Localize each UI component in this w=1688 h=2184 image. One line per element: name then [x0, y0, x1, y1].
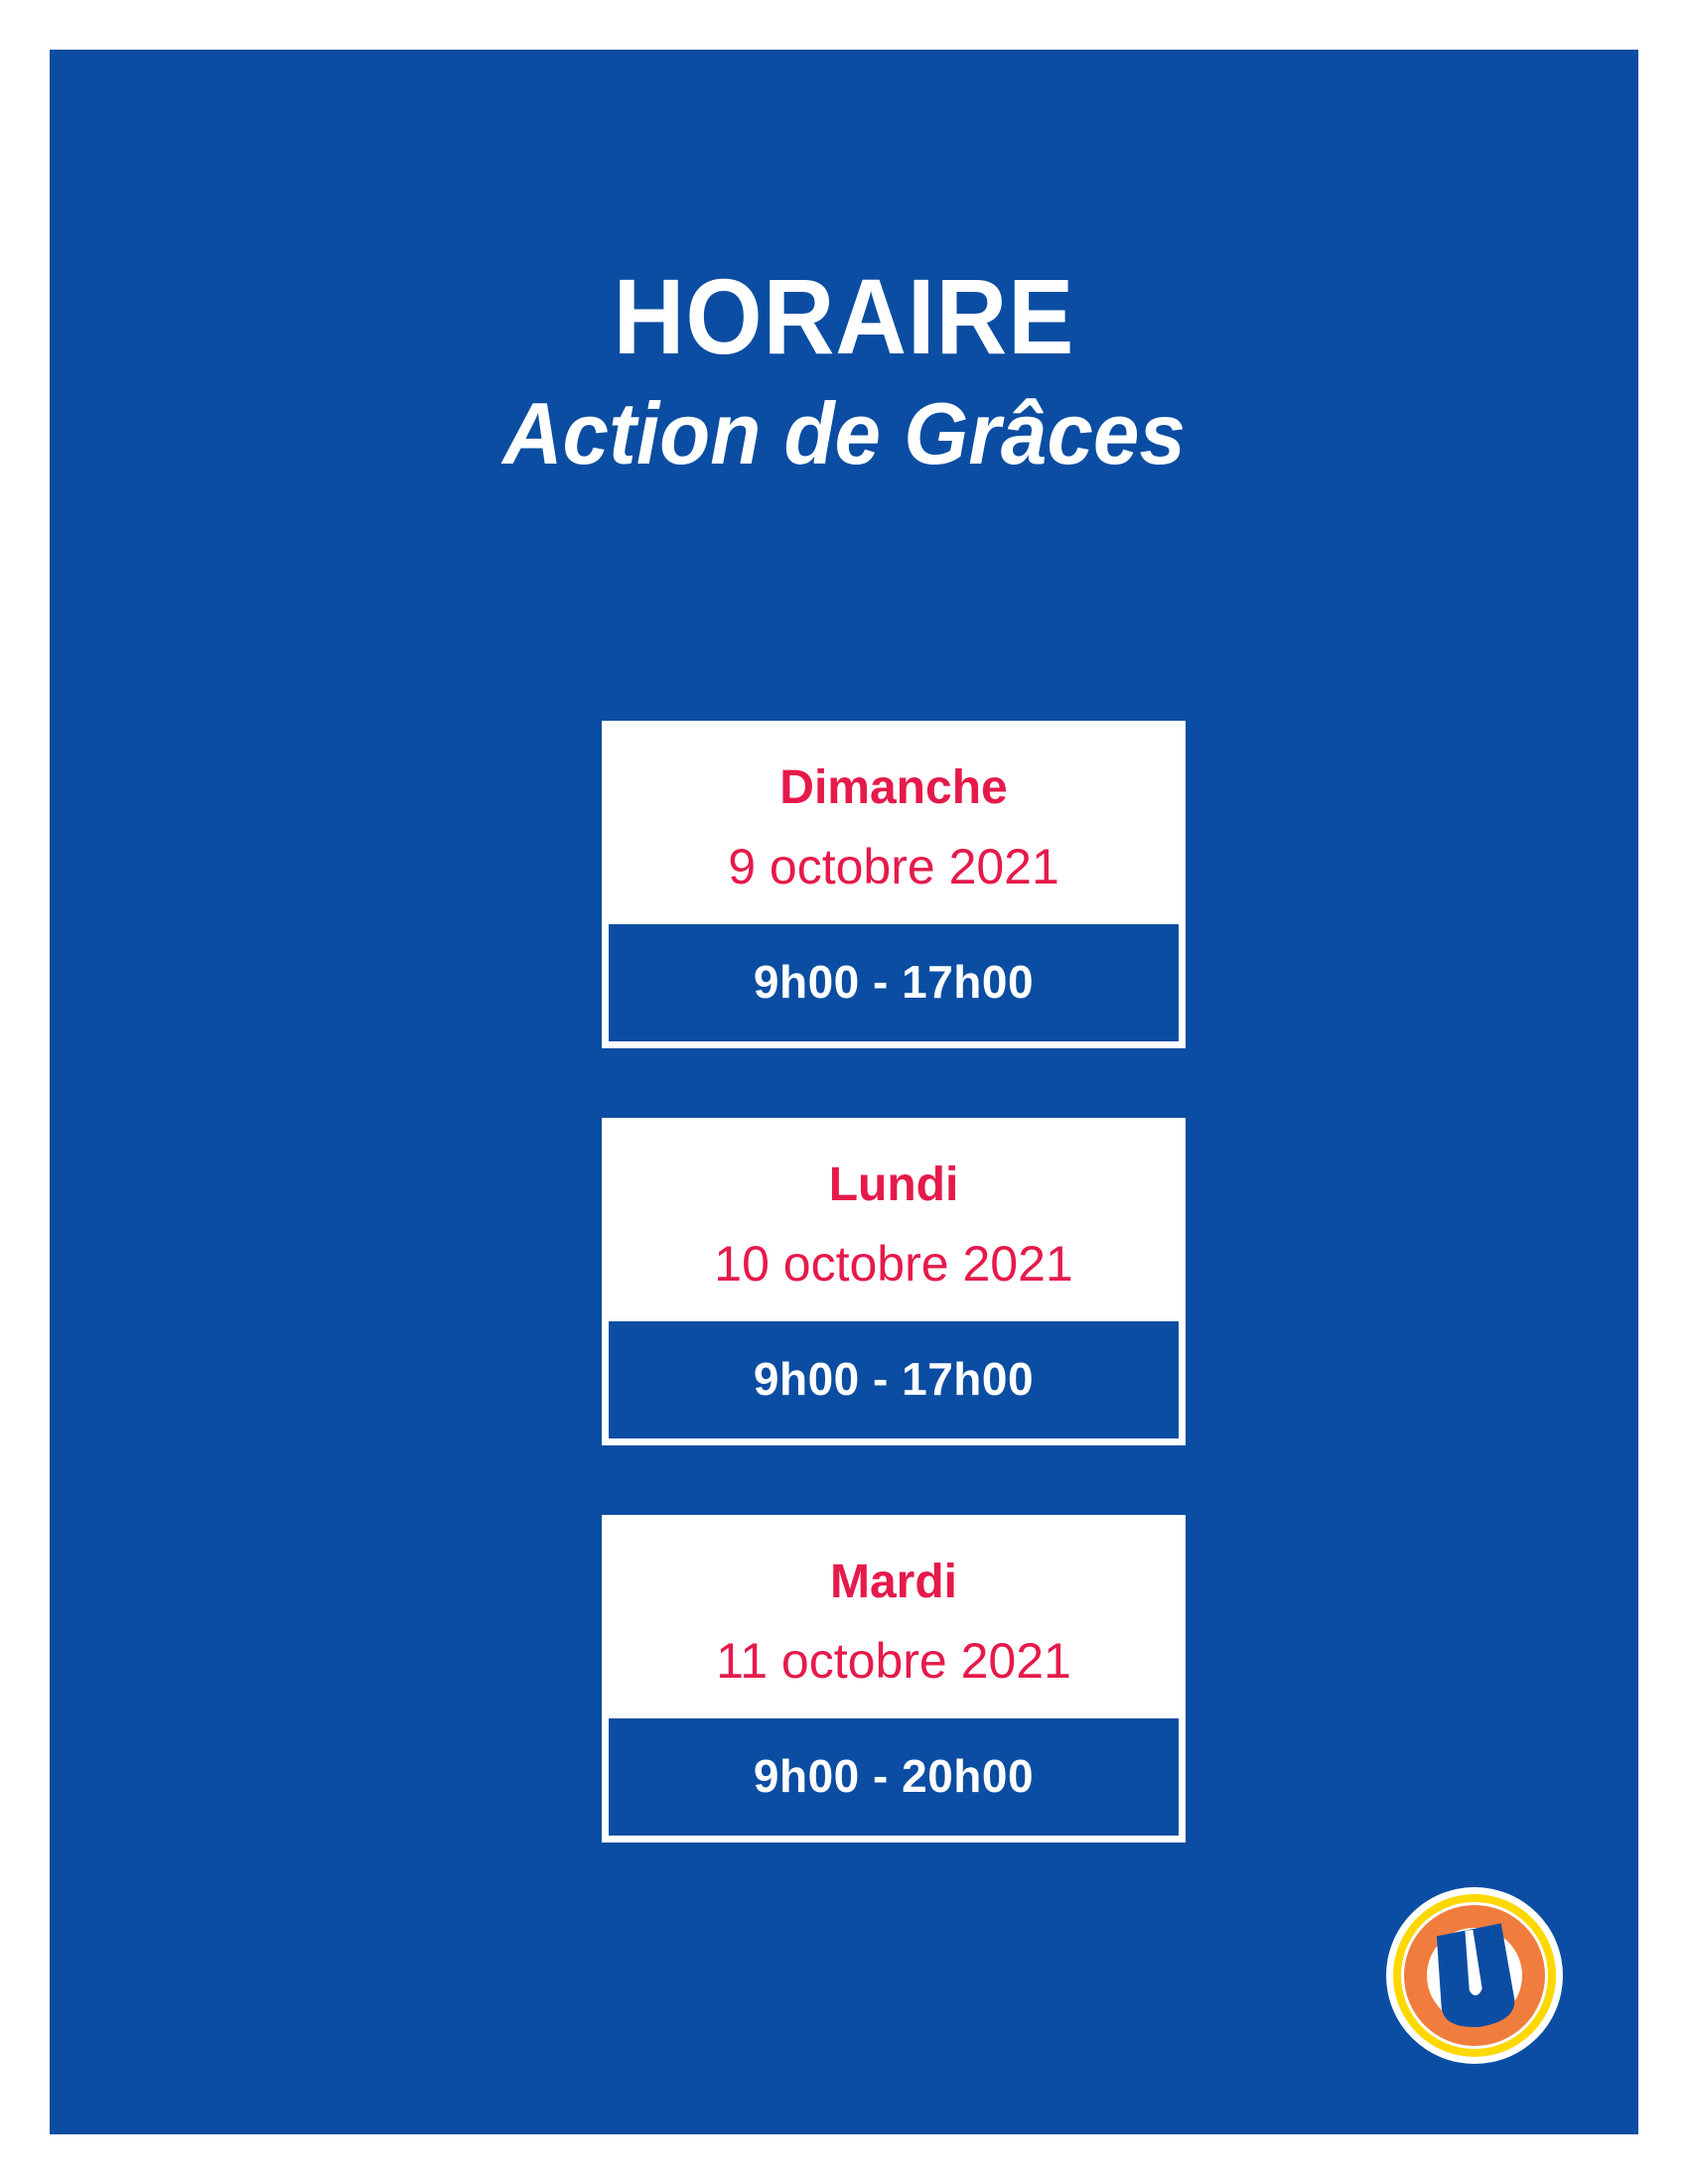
schedule-date-label: 10 octobre 2021	[612, 1239, 1176, 1289]
poster-panel: HORAIRE Action de Grâces Dimanche 9 octo…	[50, 50, 1638, 2134]
schedule-date-label: 11 octobre 2021	[612, 1636, 1176, 1686]
schedule-day-label: Mardi	[612, 1559, 1176, 1606]
poster-header: HORAIRE Action de Grâces	[50, 263, 1638, 478]
schedule-date-label: 9 octobre 2021	[612, 842, 1176, 891]
schedule-card-header: Dimanche 9 octobre 2021	[602, 721, 1186, 921]
schedule-hours-frame: 9h00 - 17h00	[602, 921, 1186, 1048]
page-subtitle: Action de Grâces	[89, 390, 1599, 478]
schedule-hours-label: 9h00 - 20h00	[606, 1715, 1182, 1839]
schedule-hours-frame: 9h00 - 20h00	[602, 1715, 1186, 1843]
schedule-card-header: Mardi 11 octobre 2021	[602, 1515, 1186, 1715]
schedule-card: Lundi 10 octobre 2021 9h00 - 17h00	[602, 1118, 1186, 1445]
schedule-day-label: Lundi	[612, 1161, 1176, 1209]
schedule-list: Dimanche 9 octobre 2021 9h00 - 17h00 Lun…	[602, 721, 1186, 1912]
schedule-card-header: Lundi 10 octobre 2021	[602, 1118, 1186, 1318]
schedule-card: Mardi 11 octobre 2021 9h00 - 20h00	[602, 1515, 1186, 1843]
schedule-hours-label: 9h00 - 17h00	[606, 1318, 1182, 1441]
uniprix-logo	[1385, 1886, 1564, 2065]
uniprix-logo-icon	[1385, 1886, 1564, 2065]
schedule-hours-label: 9h00 - 17h00	[606, 921, 1182, 1044]
schedule-day-label: Dimanche	[612, 764, 1176, 812]
schedule-hours-frame: 9h00 - 17h00	[602, 1318, 1186, 1445]
schedule-card: Dimanche 9 octobre 2021 9h00 - 17h00	[602, 721, 1186, 1048]
page-title: HORAIRE	[113, 263, 1575, 370]
